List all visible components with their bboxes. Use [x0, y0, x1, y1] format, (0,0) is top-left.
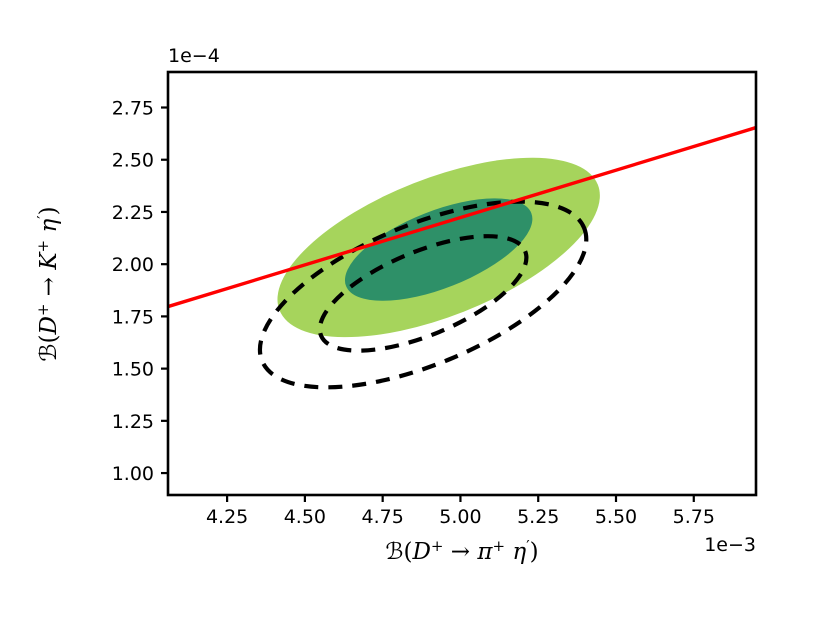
y-tick-label: 1.00 — [112, 463, 154, 485]
y-tick-label: 2.00 — [112, 254, 154, 276]
x-title-particle-d: D — [411, 539, 430, 565]
y-title-particle-d: D — [36, 316, 62, 335]
y-title-sup-plus-1: + — [34, 304, 52, 317]
y-tick-label: 1.25 — [112, 411, 154, 433]
y-tick-label: 1.75 — [112, 306, 154, 328]
y-tick-label: 2.75 — [112, 98, 154, 120]
y-tick-label: 2.25 — [112, 202, 154, 224]
x-title-script-b: ℬ — [385, 539, 403, 565]
x-tick-label: 5.00 — [439, 506, 481, 528]
x-title-close-paren: ) — [530, 539, 539, 565]
x-title-particle-eta: η — [512, 539, 526, 565]
x-title-sup-plus-1: + — [431, 537, 444, 555]
x-title-sup-plus-2: + — [493, 537, 506, 555]
x-title-particle-pi: π — [476, 539, 493, 565]
x-axis-title: ℬ(D+ → π+ η′) — [385, 537, 538, 565]
x-tick-label: 4.75 — [362, 506, 404, 528]
y-title-open-paren: ( — [36, 335, 62, 344]
x-tick-label: 5.50 — [595, 506, 637, 528]
x-tick-label: 5.75 — [673, 506, 715, 528]
y-title-space — [36, 233, 62, 240]
y-axis-title: ℬ(D+ → K+ η′) — [34, 206, 62, 361]
y-title-particle-k: K — [36, 251, 62, 271]
y-title-close-paren: ) — [36, 206, 62, 215]
y-title-arrow: → — [36, 270, 62, 304]
x-tick-label: 5.25 — [517, 506, 559, 528]
x-title-space — [505, 539, 512, 565]
x-title-arrow: → — [444, 539, 478, 565]
chart-figure: 4.254.504.755.005.255.505.75 1.001.251.5… — [0, 0, 830, 623]
x-tick-label: 4.25 — [206, 506, 248, 528]
plot-canvas: 4.254.504.755.005.255.505.75 1.001.251.5… — [0, 0, 830, 623]
y-title-sup-plus-2: + — [34, 240, 52, 253]
y-tick-label: 2.50 — [112, 150, 154, 172]
x-tick-label: 4.50 — [284, 506, 326, 528]
y-tick-label: 1.50 — [112, 359, 154, 381]
y-title-script-b: ℬ — [36, 344, 62, 362]
y-title-particle-eta: η — [36, 219, 62, 233]
x-title-open-paren: ( — [403, 539, 412, 565]
y-axis-offset-label: 1e−4 — [168, 45, 220, 67]
x-axis-offset-label: 1e−3 — [704, 534, 756, 556]
